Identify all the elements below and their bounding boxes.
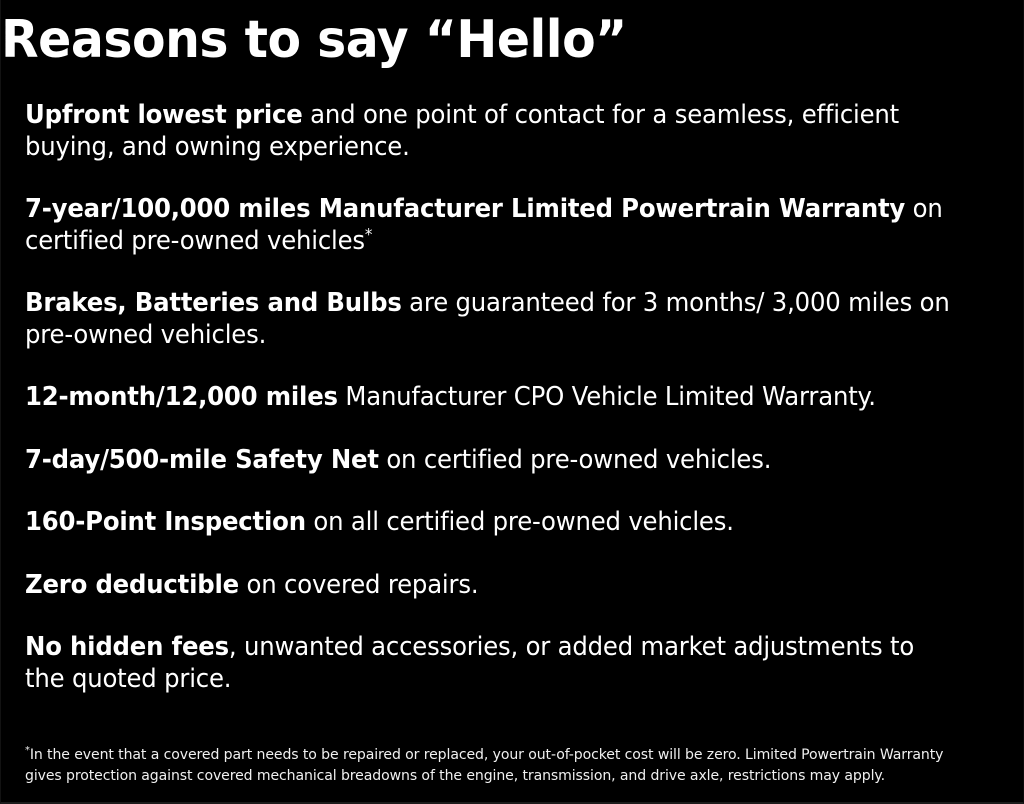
reason-lead: 7-day/500-mile Safety Net [25,445,379,475]
reason-lead: 12-month/12,000 miles [25,382,338,412]
reasons-list: Upfront lowest price and one point of co… [25,100,999,695]
reason-lead: Zero deductible [25,570,239,600]
reason-lead: No hidden fees [25,632,229,662]
reason-item: No hidden fees, unwanted accessories, or… [25,632,955,695]
reason-item: Brakes, Batteries and Bulbs are guarante… [25,288,955,351]
reason-item: Upfront lowest price and one point of co… [25,100,955,163]
reason-item: 7-day/500-mile Safety Net on certified p… [25,445,955,477]
reason-lead: 7-year/100,000 miles Manufacturer Limite… [25,194,905,224]
reason-detail: on all certified pre-owned vehicles. [306,507,734,537]
reason-lead: 160-Point Inspection [25,507,306,537]
reason-item: Zero deductible on covered repairs. [25,570,955,602]
reason-lead: Upfront lowest price [25,100,303,130]
footnote-text: In the event that a covered part needs t… [25,747,943,785]
footnote-marker-icon: * [365,224,372,243]
reason-item: 12-month/12,000 miles Manufacturer CPO V… [25,382,955,414]
reason-detail: on covered repairs. [239,570,478,600]
slide-canvas: Reasons to say “Hello” Upfront lowest pr… [0,0,1024,804]
reason-item: 7-year/100,000 miles Manufacturer Limite… [25,194,955,257]
footnote: *In the event that a covered part needs … [25,745,970,788]
reason-item: 160-Point Inspection on all certified pr… [25,507,955,539]
page-title: Reasons to say “Hello” [1,0,962,71]
reason-detail: Manufacturer CPO Vehicle Limited Warrant… [338,382,876,412]
reason-detail: on certified pre-owned vehicles. [379,445,771,475]
reason-lead: Brakes, Batteries and Bulbs [25,288,402,318]
